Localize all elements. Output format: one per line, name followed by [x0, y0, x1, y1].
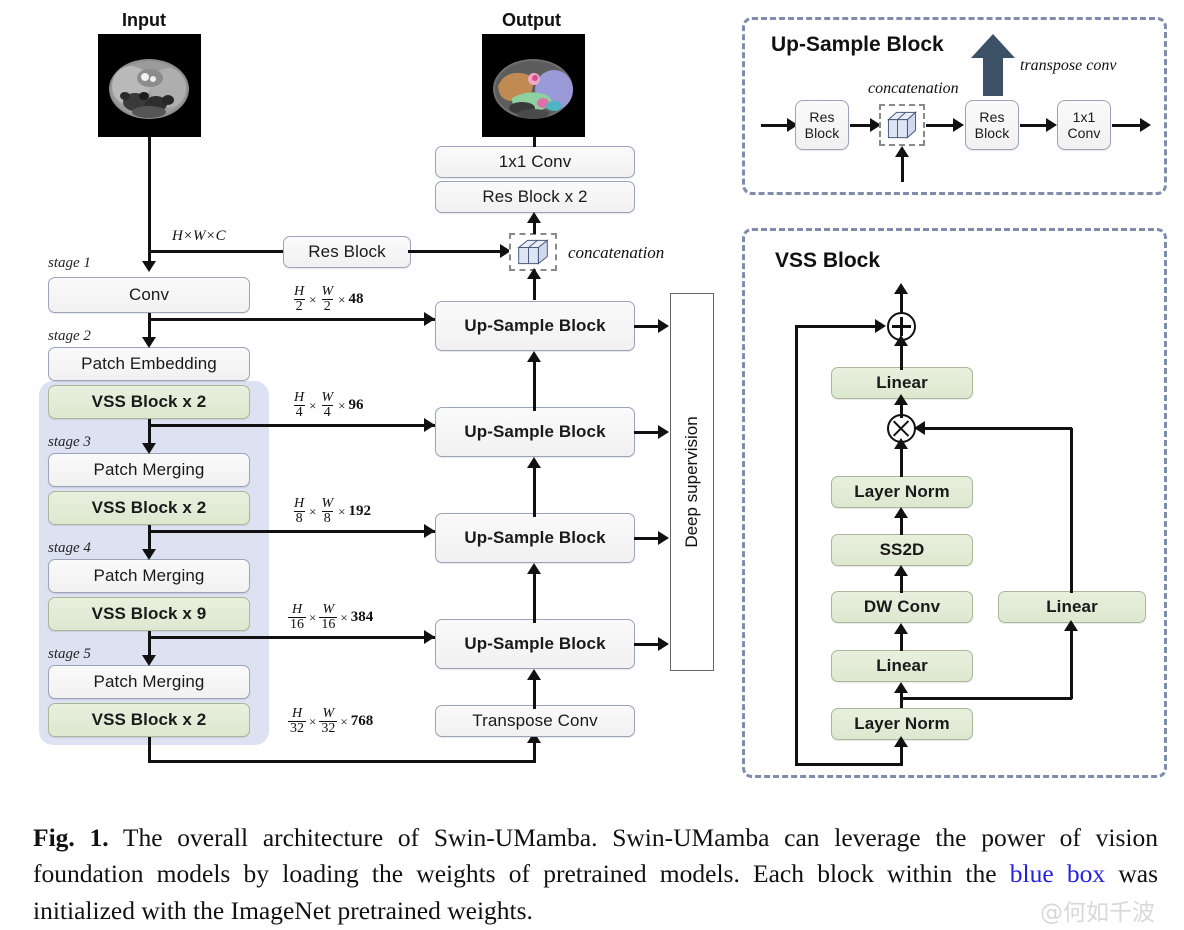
- up-panel-arrow-2: [953, 118, 964, 132]
- encoder-block-conv[interactable]: Conv: [48, 277, 250, 313]
- vss-arrow-dw-ss2d: [894, 565, 908, 576]
- skip-arrow-stage5: [424, 630, 435, 644]
- upsample1-to-concat-arrow: [527, 268, 541, 279]
- figure-caption: Fig. 1. The overall architecture of Swin…: [33, 820, 1158, 929]
- dim-label-6: H32 × W32 ×768: [288, 707, 373, 736]
- skip-arrow-stage3: [424, 418, 435, 432]
- upsample-concatenation-label: concatenation: [868, 80, 959, 98]
- vss-panel-title: VSS Block: [775, 249, 880, 273]
- res-block-to-concat-line: [408, 250, 504, 253]
- skip-line-stage4: [148, 530, 435, 533]
- encoder-block-patch-merging-3[interactable]: Patch Merging: [48, 665, 250, 699]
- vss-gate-line: [918, 427, 1072, 430]
- decoder-upsample-block-2[interactable]: Up-Sample Block: [435, 407, 635, 457]
- transpose-conv-block-arrow: [970, 32, 1016, 98]
- stage-label-4: stage 4: [48, 540, 91, 557]
- up-panel-res-block-2-line1: Res: [979, 109, 1004, 125]
- upsample-panel-title: Up-Sample Block: [771, 33, 944, 57]
- deep-supervision-box[interactable]: Deep supervision: [670, 293, 714, 671]
- stage-label-3: stage 3: [48, 434, 91, 451]
- stage-label-2: stage 2: [48, 328, 91, 345]
- concatenation-label-main: concatenation: [568, 243, 664, 263]
- skip-line-stage2: [148, 318, 435, 321]
- cube-icon: [511, 235, 555, 269]
- up-panel-res-block-1-line1: Res: [809, 109, 834, 125]
- output-scan-svg: [482, 34, 585, 137]
- up-panel-1x1-conv-line1: 1x1: [1073, 109, 1096, 125]
- vss-ss2d[interactable]: SS2D: [831, 534, 973, 566]
- stage-label-5: stage 5: [48, 646, 91, 663]
- ds-arrow-2: [658, 425, 669, 439]
- dim-label-4: H8 × W8 ×192: [292, 497, 371, 526]
- caption-figure-label: Fig. 1.: [33, 823, 109, 852]
- vss-residual-arrow: [875, 319, 886, 333]
- bottom-skip-riser: [533, 740, 536, 762]
- vss-dw-conv[interactable]: DW Conv: [831, 591, 973, 623]
- up-panel-res-block-1[interactable]: Res Block: [795, 100, 849, 150]
- input-image: [98, 34, 201, 137]
- vss-arrow-ln-linear: [894, 682, 908, 693]
- upsample-riser-3-2: [533, 461, 536, 517]
- skip-arrow-stage2: [424, 312, 435, 326]
- vss-input-arrow: [894, 736, 908, 747]
- vss-arrow-mul-linear: [894, 394, 908, 405]
- output-connector: [533, 137, 536, 147]
- input-flow-line: [148, 137, 151, 263]
- encoder-block-vss-2a[interactable]: VSS Block x 2: [48, 385, 250, 419]
- concatenation-cube-main: [509, 233, 557, 271]
- vss-residual-left: [795, 326, 798, 765]
- decoder-upsample-block-1[interactable]: Up-Sample Block: [435, 301, 635, 351]
- up-panel-concat-cube: [879, 104, 925, 146]
- concat-up-arrow: [527, 212, 541, 223]
- encoder-block-vss-2c[interactable]: VSS Block x 2: [48, 703, 250, 737]
- vss-arrow-linear-dw: [894, 623, 908, 634]
- transpose-to-upsample4-arrow: [527, 669, 541, 680]
- output-label: Output: [502, 10, 561, 31]
- stage-label-1: stage 1: [48, 255, 91, 272]
- caption-text-1: The overall architecture of Swin-UMamba.…: [33, 823, 1158, 888]
- vss-arrow-ln-mul: [894, 438, 908, 449]
- up-panel-arrow-3: [1046, 118, 1057, 132]
- vss-gate-riser: [1070, 428, 1073, 593]
- ds-arrow-3: [658, 531, 669, 545]
- output-image: [482, 34, 585, 137]
- cube-icon: [881, 106, 923, 144]
- decoder-transpose-conv[interactable]: Transpose Conv: [435, 705, 635, 737]
- up-panel-res-block-1-line2: Block: [805, 125, 840, 141]
- figure-canvas: Input Output: [0, 0, 1184, 930]
- decoder-upsample-block-4[interactable]: Up-Sample Block: [435, 619, 635, 669]
- skip-line-stage3: [148, 424, 435, 427]
- ds-arrow-1: [658, 319, 669, 333]
- vss-layer-norm-mid[interactable]: Layer Norm: [831, 476, 973, 508]
- input-flow-arrowhead: [142, 261, 156, 272]
- encoder-block-patch-merging-2[interactable]: Patch Merging: [48, 559, 250, 593]
- decoder-upsample-block-3[interactable]: Up-Sample Block: [435, 513, 635, 563]
- up-panel-1x1-conv-line2: Conv: [1067, 125, 1100, 141]
- vss-branch-line: [900, 697, 1072, 700]
- input-label: Input: [122, 10, 166, 31]
- encoder-arrow-4: [142, 655, 156, 666]
- up-panel-out-arrow: [1140, 118, 1151, 132]
- deep-supervision-label: Deep supervision: [682, 416, 702, 547]
- dim-label-2: H2 × W2 ×48: [292, 285, 363, 314]
- block-arrow-icon: [970, 32, 1016, 98]
- upsample-riser-2-1: [533, 355, 536, 411]
- encoder-arrow-2: [142, 443, 156, 454]
- vss-branch-riser: [1070, 626, 1073, 699]
- vss-output-arrow: [894, 283, 908, 294]
- encoder-block-vss-9[interactable]: VSS Block x 9: [48, 597, 250, 631]
- input-scan-svg: [98, 34, 201, 137]
- vss-residual-bottom: [795, 763, 901, 766]
- vss-gate-arrow: [914, 421, 925, 435]
- up-panel-skip-arrow: [895, 146, 909, 157]
- skip-line-stage1: [148, 250, 288, 253]
- vss-linear-bottom[interactable]: Linear: [831, 650, 973, 682]
- vss-arrow-linear-add: [894, 335, 908, 346]
- encoder-arrow-1: [142, 337, 156, 348]
- decoder-1x1-conv[interactable]: 1x1 Conv: [435, 146, 635, 178]
- caption-blue-box-text: blue box: [1010, 859, 1105, 888]
- upsample-riser-4-3: [533, 567, 536, 623]
- vss-residual-top: [795, 325, 881, 328]
- decoder-res-block[interactable]: Res Block: [283, 236, 411, 268]
- upsample-riser-4-3-arrow: [527, 563, 541, 574]
- encoder-block-patch-merging-1[interactable]: Patch Merging: [48, 453, 250, 487]
- vss-linear-branch[interactable]: Linear: [998, 591, 1146, 623]
- dim-label-5: H16 × W16 ×384: [288, 603, 373, 632]
- encoder-block-patch-embedding[interactable]: Patch Embedding: [48, 347, 250, 381]
- up-panel-1x1-conv[interactable]: 1x1 Conv: [1057, 100, 1111, 150]
- bottom-skip-line: [148, 760, 536, 763]
- vss-branch-arrow: [1064, 620, 1078, 631]
- decoder-res-block-x2[interactable]: Res Block x 2: [435, 181, 635, 213]
- encoder-arrow-3: [142, 549, 156, 560]
- ds-arrow-4: [658, 637, 669, 651]
- upsample-riser-2-1-arrow: [527, 351, 541, 362]
- skip-line-stage5: [148, 636, 435, 639]
- encoder-block-vss-2b[interactable]: VSS Block x 2: [48, 491, 250, 525]
- upsample-riser-3-2-arrow: [527, 457, 541, 468]
- up-panel-res-block-2-line2: Block: [975, 125, 1010, 141]
- vss-arrow-ss2d-ln: [894, 507, 908, 518]
- skip-arrow-stage4: [424, 524, 435, 538]
- up-panel-res-block-2[interactable]: Res Block: [965, 100, 1019, 150]
- dim-label-3: H4 × W4 ×96: [292, 391, 363, 420]
- transpose-conv-label: transpose conv: [1020, 57, 1116, 75]
- dim-label-hwc: H×W×C: [172, 228, 226, 245]
